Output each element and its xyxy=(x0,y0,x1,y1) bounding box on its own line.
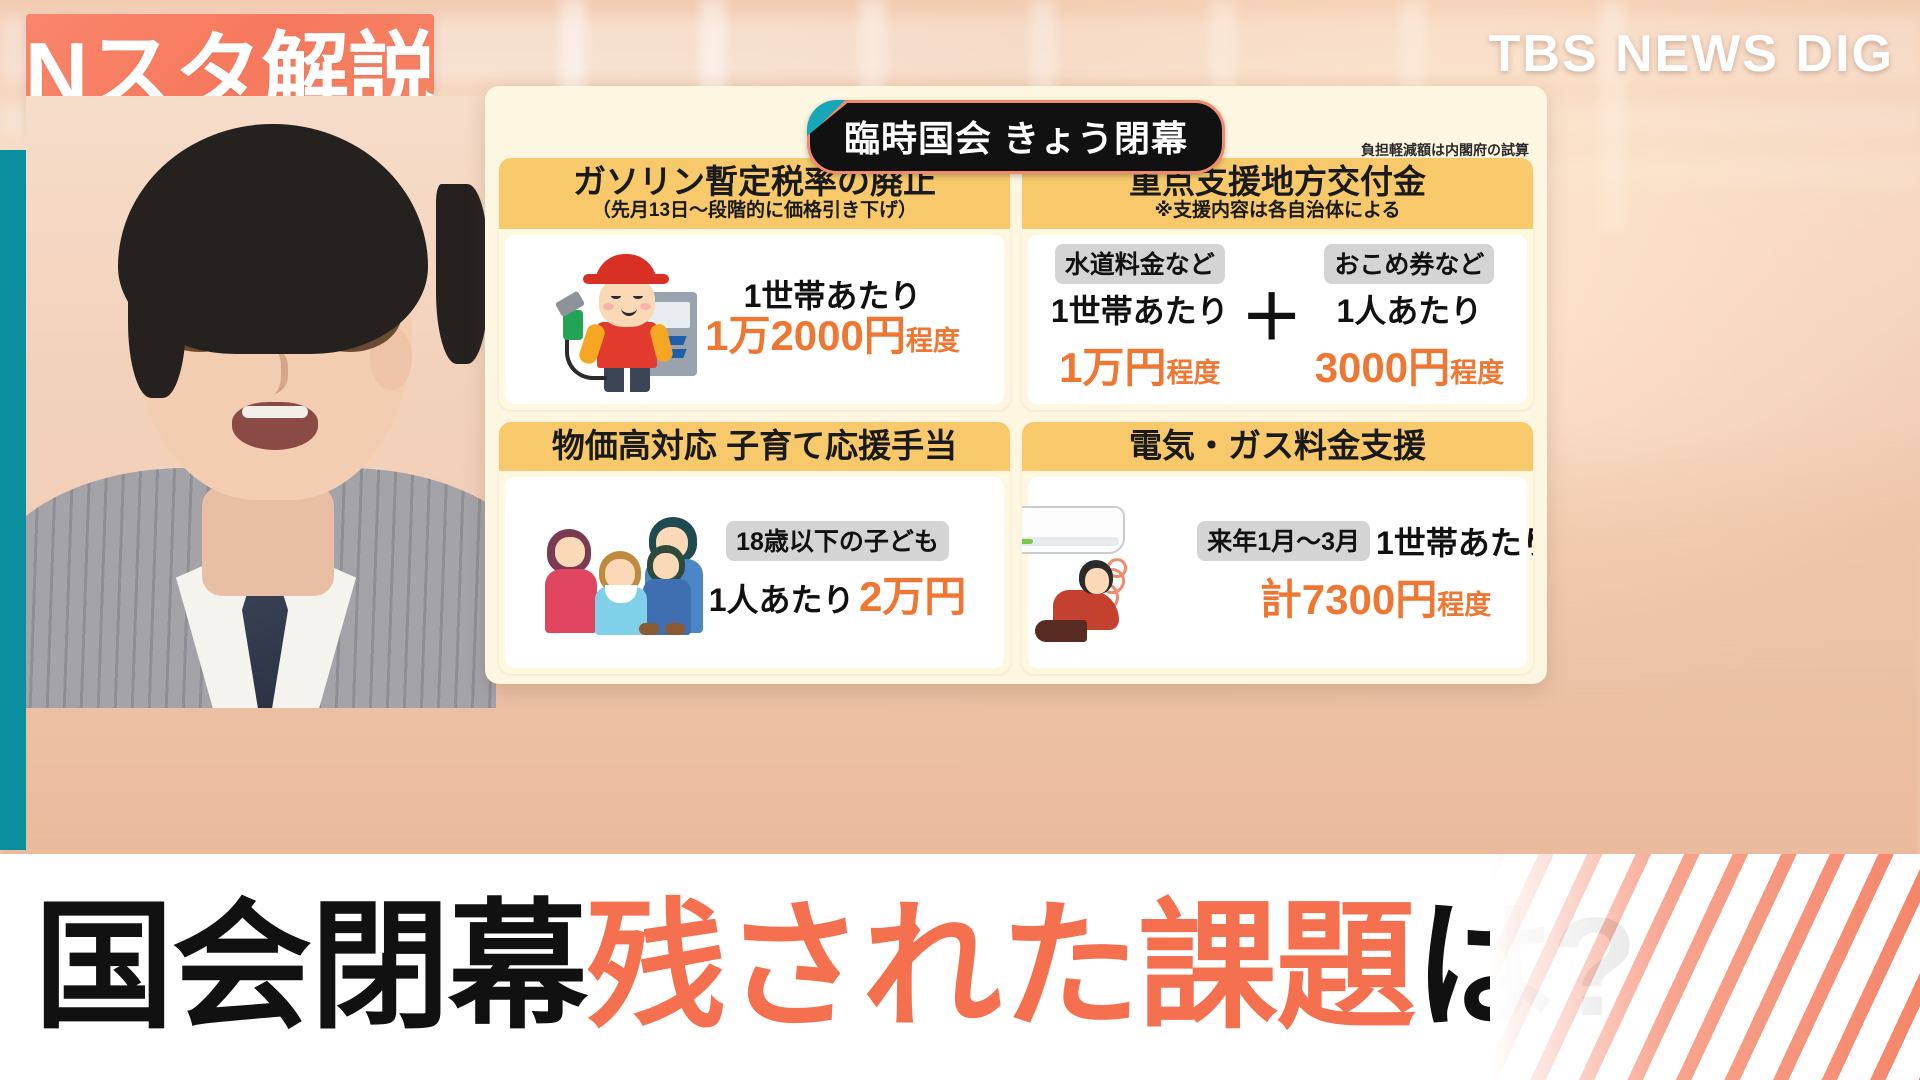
panel-title-badge: 臨時国会 きょう閉幕 xyxy=(807,100,1225,174)
panel-note: 負担軽減額は内閣府の試算 xyxy=(1361,140,1529,160)
card-utilities-top-line: 来年1月～3月 1世帯あたり xyxy=(1197,518,1533,564)
card-childcare-amount-value: 2万円 xyxy=(859,573,966,620)
headline-part-1: 国会閉幕 xyxy=(34,888,586,1045)
card-childcare-chip: 18歳以下の子ども xyxy=(726,521,949,561)
card-gasoline-subtitle: （先月13日～段階的に価格引き下げ） xyxy=(507,201,1002,222)
card-gasoline: ガソリン暫定税率の廃止 （先月13日～段階的に価格引き下げ） xyxy=(499,158,1010,410)
card-gasoline-amount: 1世帯あたり 1万2000円程度 xyxy=(705,280,960,358)
card-childcare-header: 物価高対応 子育て応援手当 xyxy=(499,422,1010,471)
headline-stripe-fade xyxy=(1490,854,1920,1080)
card-local-grant-subtitle: ※支援内容は各自治体による xyxy=(1030,201,1525,222)
card-local-grant: 重点支援地方交付金 ※支援内容は各自治体による 水道料金など 1世帯あたり 1万… xyxy=(1022,158,1533,410)
local-grant-right-value: 3000円程度 xyxy=(1315,334,1504,395)
panel-title-text: 臨時国会 きょう閉幕 xyxy=(844,110,1188,162)
plus-operator-icon: ＋ xyxy=(1241,288,1303,350)
family-icon xyxy=(543,507,703,637)
card-childcare-body: 18歳以下の子ども 1人あたり 2万円 xyxy=(505,477,1004,668)
card-childcare-amount: 18歳以下の子ども 1人あたり 2万円 xyxy=(709,521,967,624)
headline-part-2: 残された課題 xyxy=(586,888,1414,1045)
card-utilities-title: 電気・ガス料金支援 xyxy=(1030,428,1525,464)
gas-station-attendant-icon xyxy=(549,244,699,394)
card-utilities-amount-label: 1世帯あたり xyxy=(1376,518,1533,564)
card-gasoline-body: 1世帯あたり 1万2000円程度 xyxy=(505,235,1004,404)
local-grant-left-group: 水道料金など 1世帯あたり 1万円程度 xyxy=(1051,244,1229,395)
panel-header: 臨時国会 きょう閉幕 負担軽減額は内閣府の試算 xyxy=(499,96,1533,158)
card-childcare-amount-label: 1人あたり xyxy=(709,582,855,618)
headline-bar: 国会閉幕残された課題は? xyxy=(0,854,1920,1080)
air-conditioner-icon xyxy=(1022,502,1191,642)
anchor-photo xyxy=(26,96,496,708)
card-utilities: 電気・ガス料金支援 来年1月～3月 1世帯あたり 計7300円程度 xyxy=(1022,422,1533,674)
card-utilities-amount-value: 計7300円程度 xyxy=(1260,566,1491,627)
local-grant-left-label: 1世帯あたり xyxy=(1051,286,1229,332)
infographic-panel: 臨時国会 きょう閉幕 負担軽減額は内閣府の試算 ガソリン暫定税率の廃止 （先月1… xyxy=(485,86,1547,684)
card-gasoline-amount-label: 1世帯あたり xyxy=(744,280,922,314)
card-utilities-header: 電気・ガス料金支援 xyxy=(1022,422,1533,471)
local-grant-right-label: 1人あたり xyxy=(1337,286,1483,332)
card-utilities-body: 来年1月～3月 1世帯あたり 計7300円程度 xyxy=(1028,477,1527,668)
measures-grid: ガソリン暫定税率の廃止 （先月13日～段階的に価格引き下げ） xyxy=(499,158,1533,674)
headline-text: 国会閉幕残された課題は? xyxy=(34,897,1636,1037)
card-utilities-chip: 来年1月～3月 xyxy=(1197,521,1370,561)
teal-side-strip xyxy=(0,150,26,850)
broadcast-stage: Nスタ解説 TBS NEWS DIG 臨時国会 きょう閉幕 負担軽減額 xyxy=(0,0,1920,1080)
card-gasoline-amount-value: 1万2000円程度 xyxy=(705,314,960,358)
local-grant-left-chip: 水道料金など xyxy=(1055,244,1225,284)
local-grant-right-group: おこめ券など 1人あたり 3000円程度 xyxy=(1315,244,1504,395)
card-utilities-amount: 来年1月～3月 1世帯あたり 計7300円程度 xyxy=(1197,518,1533,627)
card-local-grant-body: 水道料金など 1世帯あたり 1万円程度 ＋ おこめ券など 1人あたり 3000円… xyxy=(1028,235,1527,404)
card-childcare-amount-line: 1人あたり 2万円 xyxy=(709,563,967,624)
card-childcare: 物価高対応 子育て応援手当 18歳以下の子ども 1人あたり xyxy=(499,422,1010,674)
network-logo: TBS NEWS DIG xyxy=(1489,24,1894,84)
card-childcare-title: 物価高対応 子育て応援手当 xyxy=(507,428,1002,464)
local-grant-left-value: 1万円程度 xyxy=(1059,334,1220,395)
local-grant-right-chip: おこめ券など xyxy=(1324,244,1494,284)
